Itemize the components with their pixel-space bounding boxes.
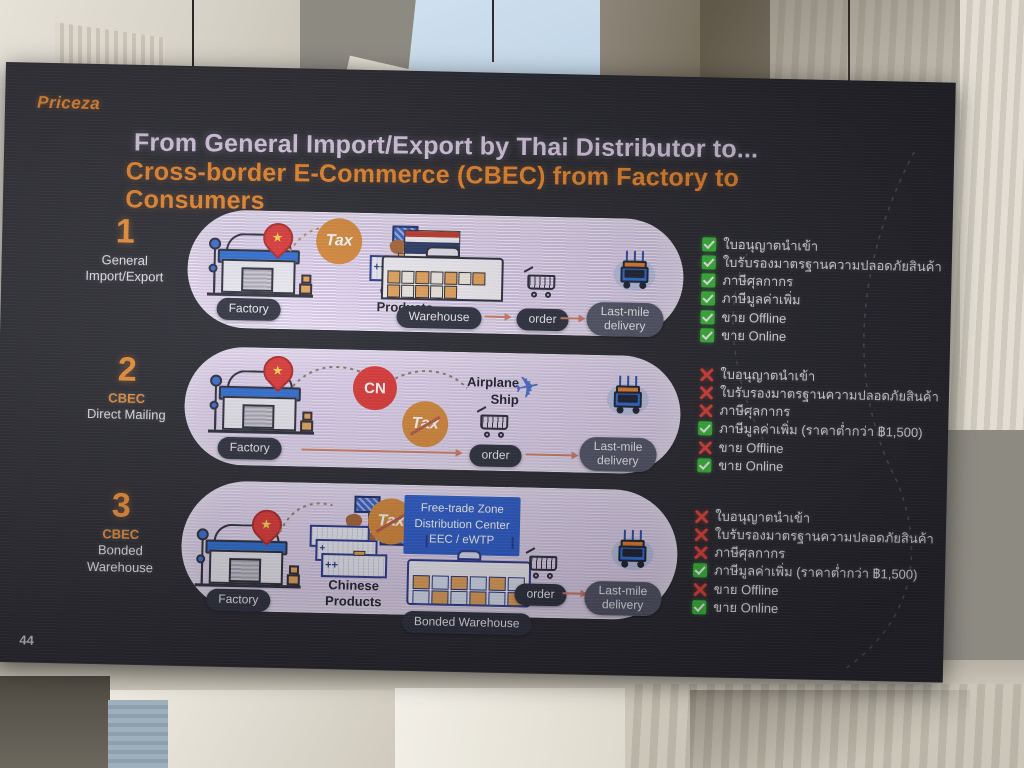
factory-illustration: [207, 233, 314, 297]
priceza-logo: Priceza: [37, 93, 100, 114]
hanging-wire: [492, 0, 494, 62]
sunlight-shadow: [690, 690, 970, 768]
check-no-icon: [693, 545, 707, 559]
row-2-flow: ★ Factory CN Airplane Ship ✈ Tax order: [183, 346, 681, 475]
factory-caption: Factory: [216, 298, 280, 321]
row-3-checklist: ใบอนุญาตนำเข้า ใบรับรองมาตรฐานความปลอดภั…: [692, 507, 934, 621]
flow-arrow: [302, 449, 462, 454]
wall-panel: [395, 688, 625, 768]
row-1-subtitle: General Import/Export: [49, 251, 200, 287]
check-yes-icon: [700, 328, 714, 342]
factory-caption: Factory: [206, 589, 270, 612]
check-yes-icon: [702, 237, 716, 251]
last-mile-delivery-caption: Last-mile delivery: [586, 302, 663, 337]
lower-window: [108, 700, 168, 768]
check-yes-icon: [702, 255, 716, 269]
warehouse-caption: Warehouse: [396, 306, 481, 330]
shopping-cart-icon: [476, 408, 511, 439]
check-no-icon: [698, 404, 712, 418]
check-yes-icon: [697, 458, 711, 472]
check-no-icon: [694, 527, 708, 541]
flow-arrow: [526, 453, 578, 456]
bonded-warehouse-caption: Bonded Warehouse: [402, 611, 532, 636]
check-no-icon: [694, 509, 708, 523]
order-caption: order: [514, 583, 566, 606]
lower-dark-recess: [0, 676, 110, 768]
warehouse-illustration: [381, 245, 504, 306]
row-3-flow: ★ Factory ++ + Chinese Products Tax: [180, 480, 679, 621]
cn-country-badge: CN: [352, 366, 397, 411]
factory-caption: Factory: [217, 437, 281, 460]
check-yes-icon: [698, 422, 712, 436]
flow-arrow: [485, 316, 511, 319]
row-1-label: 1 General Import/Export: [49, 213, 201, 287]
row-2-number: 2: [47, 351, 208, 388]
slide-page-number: 44: [19, 632, 34, 647]
check-no-icon: [699, 367, 713, 381]
delivery-truck-icon: [604, 377, 651, 422]
shopping-cart-icon: [523, 268, 558, 299]
china-star-icon: ★: [261, 518, 273, 531]
row-1-checklist: ใบอนุญาตนำเข้า ใบรับรองมาตรฐานความปลอดภั…: [700, 235, 942, 349]
check-yes-icon: [701, 274, 715, 288]
hanging-wire: [848, 0, 850, 86]
airplane-icon: ✈: [512, 371, 542, 405]
check-yes-icon: [693, 564, 707, 578]
check-no-icon: [699, 385, 713, 399]
shopping-cart-icon: [525, 549, 560, 580]
check-no-icon: [693, 582, 707, 596]
check-yes-icon: [692, 600, 706, 614]
factory-illustration: [208, 371, 315, 435]
china-star-icon: ★: [272, 231, 284, 244]
row-1-flow: ★ Factory Tax ++ Chinese Products: [186, 209, 684, 338]
order-caption: order: [516, 308, 568, 331]
order-caption: order: [469, 444, 521, 467]
delivery-truck-icon: [609, 531, 656, 576]
transport-modes-label: Airplane Ship: [453, 374, 520, 409]
curtain-wall-glass: [960, 0, 1024, 430]
led-billboard-screen: Priceza 44 From General Import/Export by…: [0, 62, 956, 683]
last-mile-delivery-caption: Last-mile delivery: [584, 581, 661, 616]
slide-title: From General Import/Export by Thai Distr…: [133, 128, 834, 221]
factory-illustration: [195, 524, 302, 588]
last-mile-delivery-caption: Last-mile delivery: [579, 437, 656, 472]
row-2-subtitle: CBEC Direct Mailing: [46, 389, 207, 425]
check-yes-icon: [701, 292, 715, 306]
tax-badge-struck: Tax: [402, 401, 449, 448]
bonded-warehouse-illustration: [406, 547, 531, 610]
row-1-number: 1: [50, 213, 201, 250]
china-star-icon: ★: [272, 364, 284, 377]
check-no-icon: [698, 440, 712, 454]
chinese-products-label: Chinese Products: [298, 577, 409, 611]
row-2-checklist: ใบอนุญาตนำเข้า ใบรับรองมาตรฐานความปลอดภั…: [697, 365, 939, 479]
tax-badge: Tax: [316, 218, 363, 265]
delivery-truck-icon: [611, 252, 658, 297]
check-yes-icon: [700, 310, 714, 324]
